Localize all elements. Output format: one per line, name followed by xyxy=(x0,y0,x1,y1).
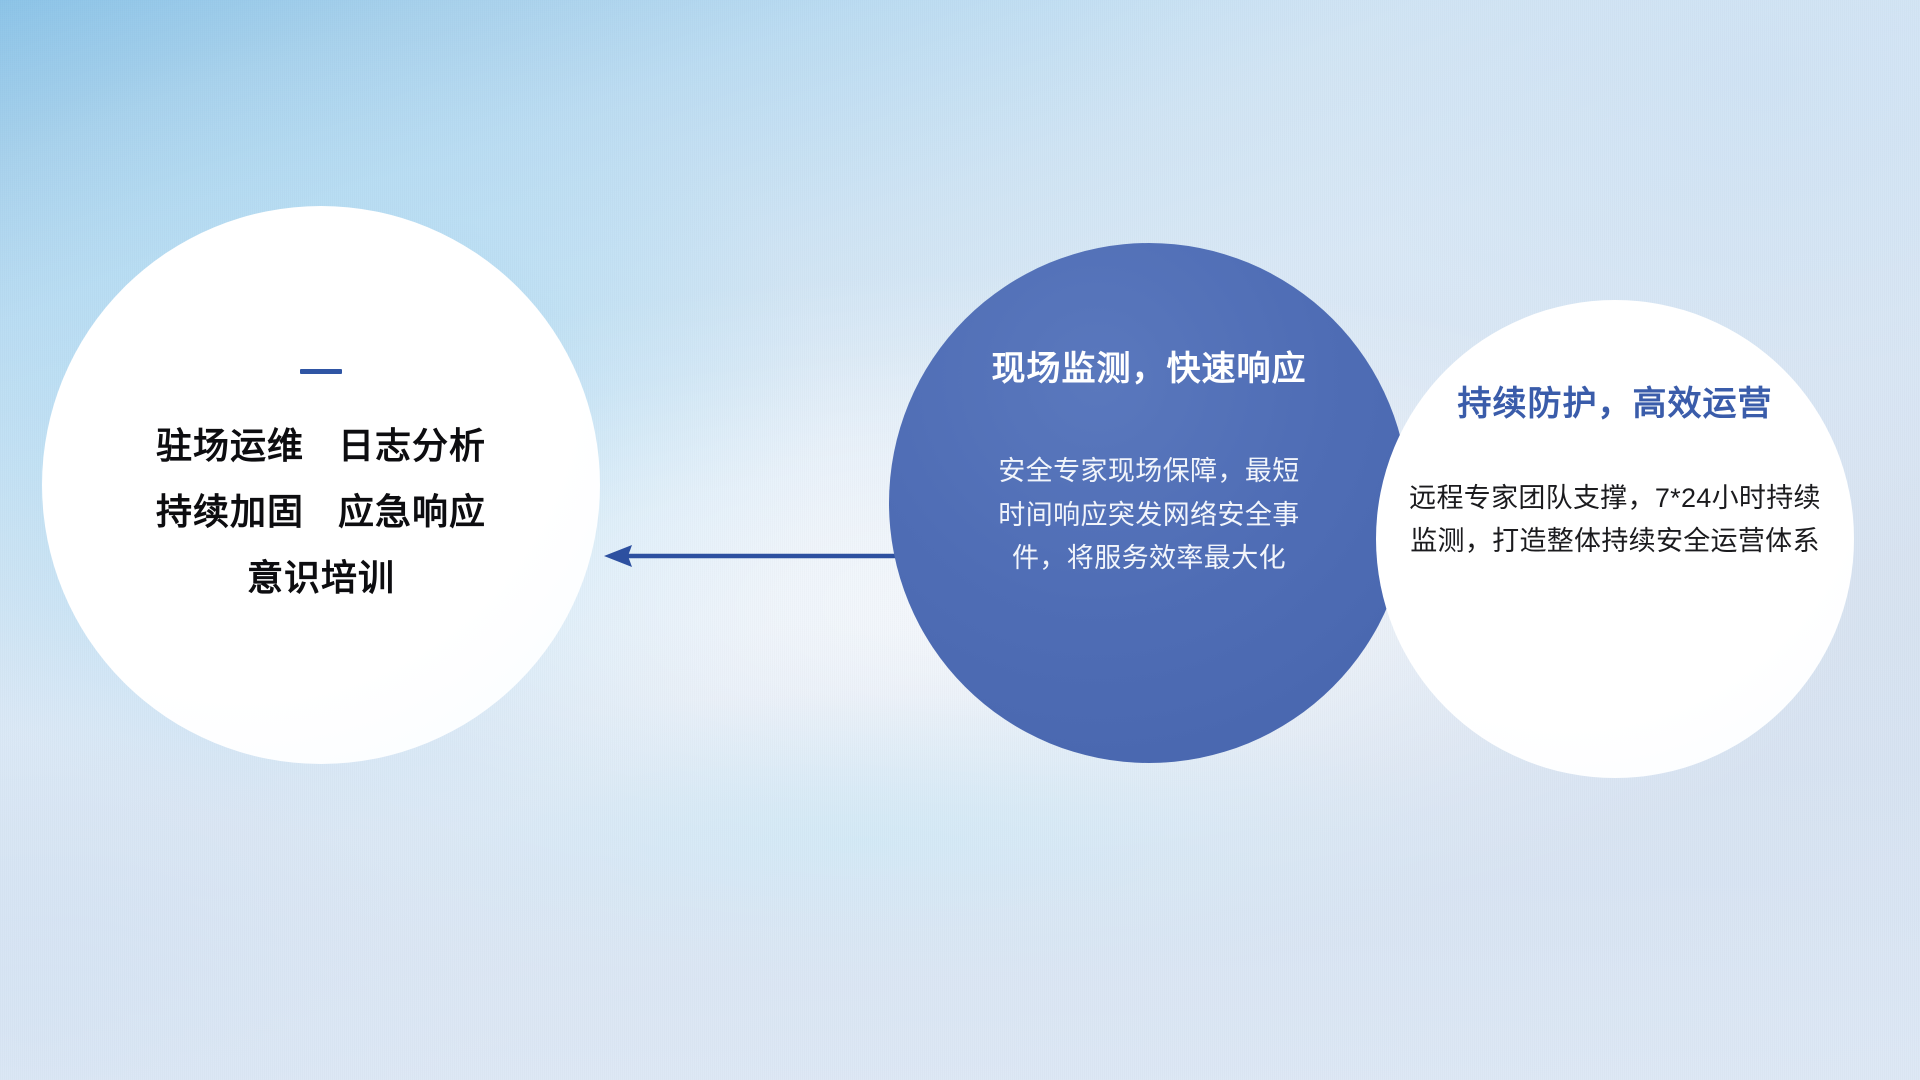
horizontal-dash-icon xyxy=(300,369,342,374)
capability-tag[interactable]: 驻场运维 xyxy=(156,428,304,464)
node-continuous-protection[interactable]: 持续防护，高效运营 远程专家团队支撑，7*24小时持续监测，打造整体持续安全运营… xyxy=(1376,300,1854,778)
onsite-monitoring-body: 安全专家现场保障，最短时间响应突发网络安全事件，将服务效率最大化 xyxy=(989,450,1309,581)
node-service-capabilities[interactable]: 驻场运维 日志分析 持续加固 应急响应 意识培训 xyxy=(42,206,600,764)
continuous-protection-body: 远程专家团队支撑，7*24小时持续监测，打造整体持续安全运营体系 xyxy=(1406,477,1824,562)
service-capabilities-content: 驻场运维 日志分析 持续加固 应急响应 意识培训 xyxy=(42,206,600,764)
capability-tag-list: 驻场运维 日志分析 持续加固 应急响应 意识培训 xyxy=(156,428,486,596)
capability-tag[interactable]: 应急响应 xyxy=(338,494,486,530)
flow-arrow-left-icon xyxy=(590,520,910,590)
capability-tag[interactable]: 持续加固 xyxy=(156,494,304,530)
capability-row: 持续加固 应急响应 xyxy=(156,494,486,530)
capability-tag[interactable]: 日志分析 xyxy=(338,428,486,464)
onsite-monitoring-title: 现场监测，快速响应 xyxy=(992,341,1307,390)
capability-tag[interactable]: 意识培训 xyxy=(247,560,395,596)
continuous-protection-content: 持续防护，高效运营 远程专家团队支撑，7*24小时持续监测，打造整体持续安全运营… xyxy=(1376,300,1854,778)
capability-row: 意识培训 xyxy=(247,560,395,596)
node-onsite-monitoring[interactable]: 现场监测，快速响应 安全专家现场保障，最短时间响应突发网络安全事件，将服务效率最… xyxy=(889,243,1409,763)
onsite-monitoring-content: 现场监测，快速响应 安全专家现场保障，最短时间响应突发网络安全事件，将服务效率最… xyxy=(889,243,1409,763)
diagram-canvas: 驻场运维 日志分析 持续加固 应急响应 意识培训 现场监测，快速响应 安全专家现… xyxy=(0,0,1920,1080)
capability-row: 驻场运维 日志分析 xyxy=(156,428,486,464)
continuous-protection-title: 持续防护，高效运营 xyxy=(1458,376,1773,425)
